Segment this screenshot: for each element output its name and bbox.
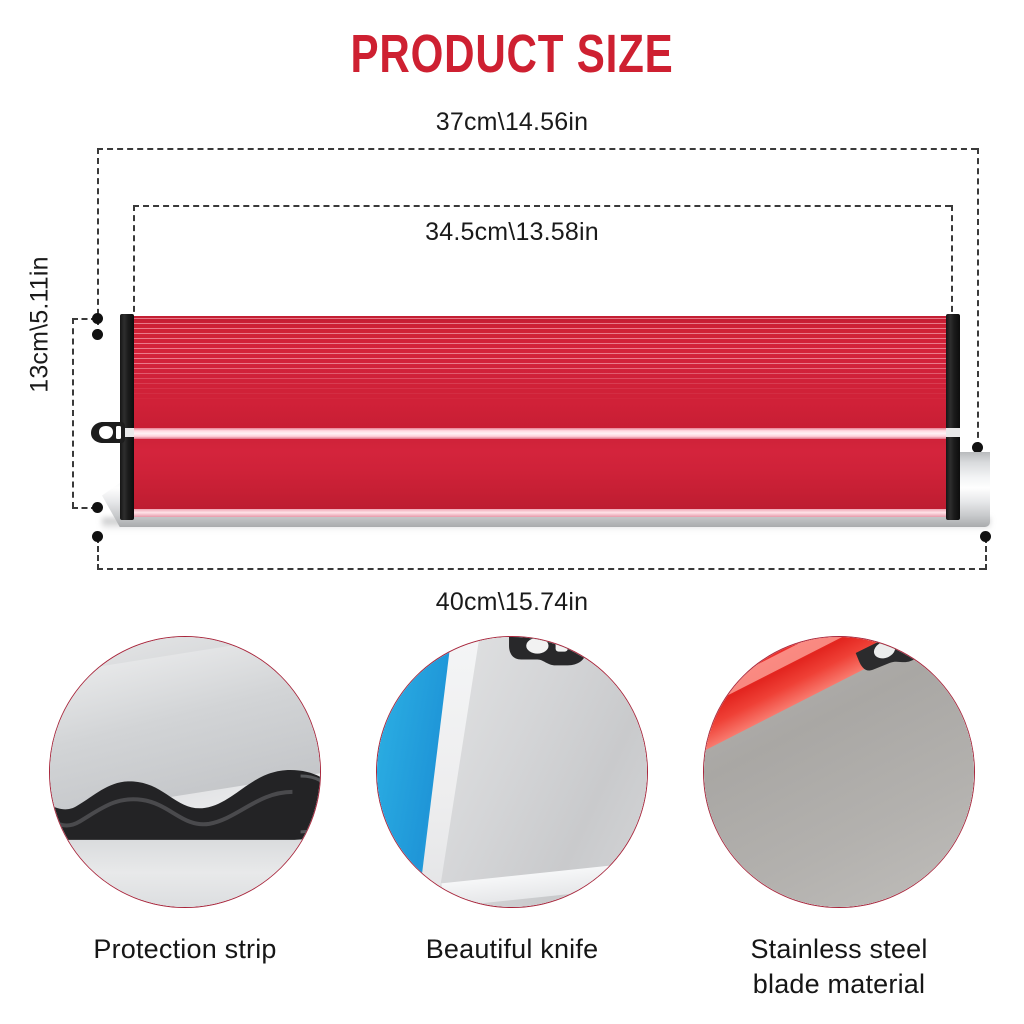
- feature-gallery: Protection strip Beautiful knife: [0, 636, 1024, 1024]
- beautiful-knife-photo: [376, 636, 648, 908]
- feature-caption-line2: blade material: [679, 967, 999, 1002]
- mounting-clip-icon: [507, 636, 588, 675]
- dimension-label-width-inner: 34.5cm\13.58in: [0, 218, 1024, 247]
- protection-strip-photo: [49, 636, 321, 908]
- dimension-line-40cm-bottom: [97, 568, 985, 570]
- feature-item: Beautiful knife: [352, 636, 672, 967]
- feature-item: Protection strip: [25, 636, 345, 967]
- mounting-clip-icon: [855, 636, 947, 680]
- product-illustration: [90, 300, 990, 550]
- dimension-label-height: 13cm\5.11in: [26, 215, 55, 435]
- stainless-steel-blade-photo: [703, 636, 975, 908]
- center-highlight-strip: [128, 428, 953, 439]
- dimension-line-37cm-top: [97, 148, 977, 150]
- page-title: PRODUCT SIZE: [113, 26, 912, 83]
- endcap-gap-right: [946, 428, 960, 437]
- dimension-line-13cm-vertical: [72, 318, 74, 508]
- feature-caption-line1: Stainless steel: [679, 932, 999, 967]
- feature-caption: Beautiful knife: [352, 932, 672, 967]
- ribbed-upper-section: [128, 316, 953, 428]
- dimension-label-width-outer: 37cm\14.56in: [0, 108, 1024, 137]
- bottom-highlight-edge: [128, 509, 953, 517]
- mounting-clip-icon: [90, 417, 126, 447]
- feature-caption: Stainless steel blade material: [679, 932, 999, 1001]
- wavy-rubber-strip: [49, 756, 321, 848]
- red-aluminum-body: [128, 316, 953, 516]
- lower-red-section: [128, 439, 953, 509]
- endcap-right: [946, 314, 960, 520]
- feature-caption: Protection strip: [25, 932, 345, 967]
- dimension-line-345cm-top: [133, 205, 951, 207]
- feature-item: Stainless steel blade material: [679, 636, 999, 1001]
- dimension-label-width-blade: 40cm\15.74in: [0, 588, 1024, 617]
